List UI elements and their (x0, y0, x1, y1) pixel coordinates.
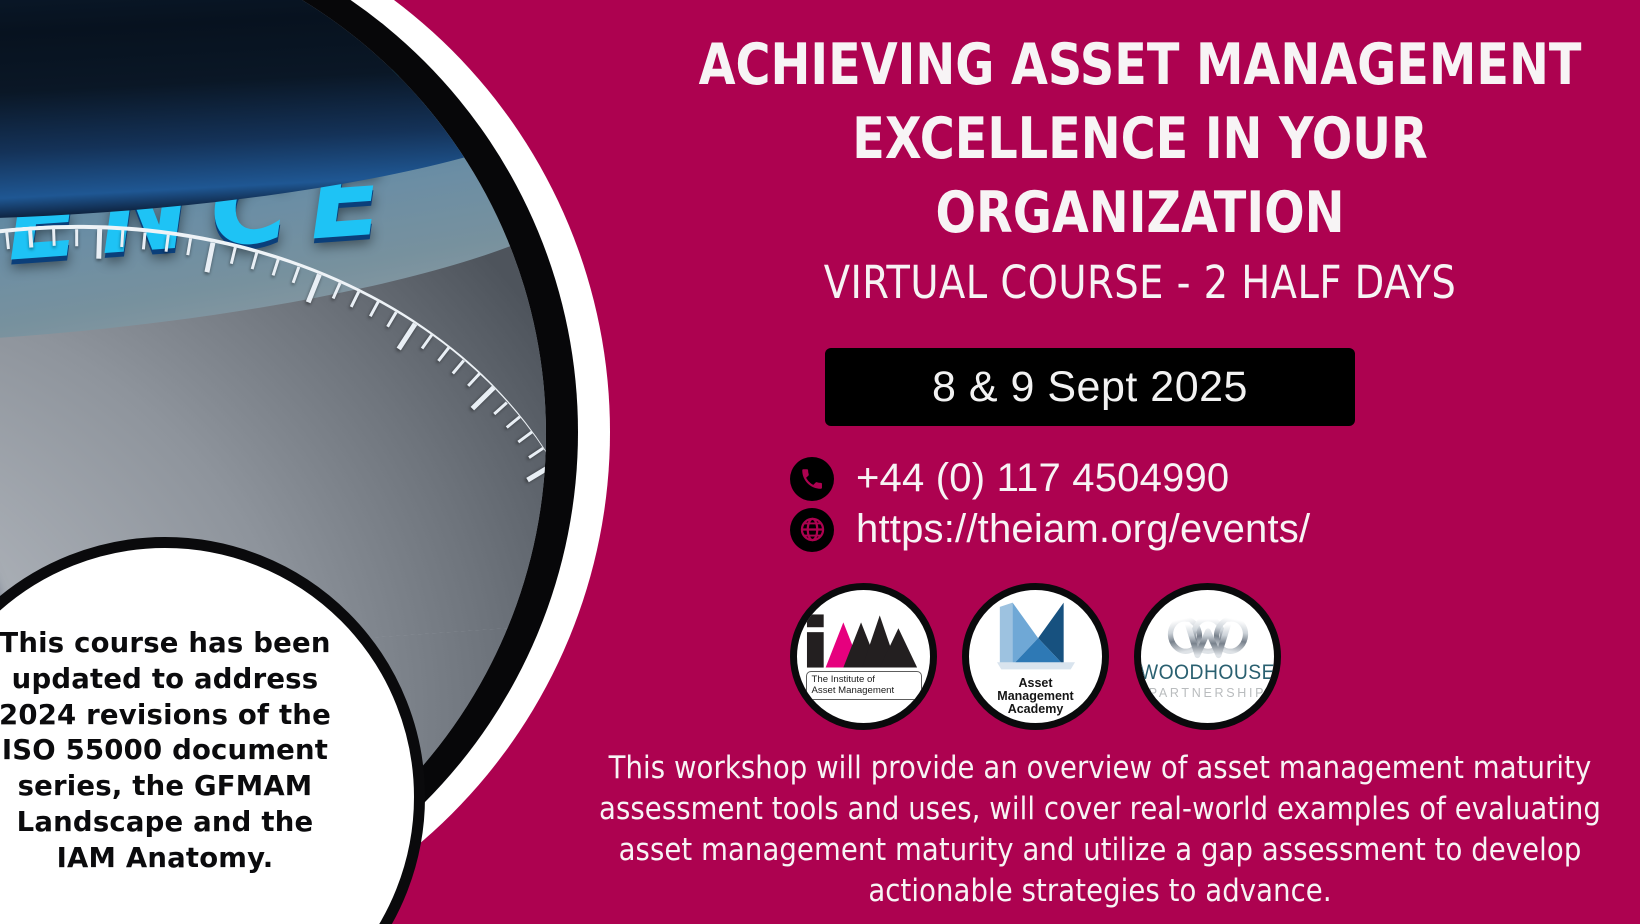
globe-icon (790, 508, 834, 552)
partner-logo-row: The Institute of Asset Management Asset … (790, 583, 1281, 730)
phone-number: +44 (0) 117 4504990 (856, 456, 1229, 501)
compass-tick (369, 301, 380, 317)
compass-tick (526, 462, 546, 482)
iam-caption-line2: Asset Management (812, 685, 916, 696)
compass-tick (494, 401, 509, 415)
contact-website-row[interactable]: https://theiam.org/events/ (790, 507, 1550, 552)
phone-icon (790, 457, 834, 501)
date-badge-text: 8 & 9 Sept 2025 (932, 363, 1248, 412)
ama-caption-line1: Asset (997, 677, 1073, 690)
compass-tick (75, 229, 78, 246)
iam-caption-line1: The Institute of (812, 674, 916, 685)
compass-tick (292, 266, 301, 283)
woodhouse-logo-subtitle: PARTNERSHIP (1149, 686, 1266, 700)
compass-tick (517, 431, 533, 444)
compass-tick (120, 230, 124, 247)
course-description: This workshop will provide an overview o… (576, 748, 1624, 912)
iam-logo-caption: The Institute of Asset Management (806, 671, 922, 700)
compass-tick (452, 359, 465, 374)
compass-tick (5, 232, 10, 249)
compass-tick (96, 229, 102, 259)
ama-caption-line2: Management (997, 690, 1073, 703)
ama-logo-icon (996, 597, 1076, 675)
compass-tick (306, 273, 322, 303)
woodhouse-logo-icon (1160, 614, 1256, 660)
logo-iam: The Institute of Asset Management (790, 583, 937, 730)
compass-tick (331, 282, 341, 299)
compass-tick (52, 229, 56, 246)
compass-tick (142, 232, 147, 249)
compass-tick (471, 386, 496, 411)
compass-tick (164, 235, 169, 252)
compass-tick (387, 312, 398, 328)
compass-tick (350, 291, 360, 308)
woodhouse-logo-name: WOODHOUSE (1140, 661, 1275, 685)
compass-tick (229, 247, 236, 264)
page-title: ACHIEVING ASSET MANAGEMENT EXCELLENCE IN… (684, 28, 1595, 250)
compass-tick (204, 242, 215, 272)
iam-logo-icon (805, 613, 923, 669)
course-update-callout-text: This course has been updated to address … (0, 626, 345, 876)
compass-tick (186, 238, 192, 255)
compass-tick (251, 252, 259, 269)
contact-list: +44 (0) 117 4504990 https://theiam.org/e… (790, 456, 1550, 558)
compass-tick (528, 447, 544, 459)
compass-tick (29, 230, 33, 247)
flyer-content-panel: ACHIEVING ASSET MANAGEMENT EXCELLENCE IN… (640, 0, 1640, 924)
compass-tick (396, 322, 417, 350)
logo-woodhouse-partnership: WOODHOUSE PARTNERSHIP (1134, 583, 1281, 730)
course-format-subtitle: VIRTUAL COURSE - 2 HALF DAYS (675, 256, 1606, 309)
event-flyer: EXCELLENCE (0, 0, 1640, 924)
date-badge: 8 & 9 Sept 2025 (825, 348, 1355, 426)
compass-tick (506, 416, 521, 429)
ama-caption-line3: Academy (997, 703, 1073, 716)
compass-tick (467, 373, 481, 388)
compass-tick (421, 334, 433, 350)
logo-asset-management-academy: Asset Management Academy (962, 583, 1109, 730)
website-url: https://theiam.org/events/ (856, 507, 1310, 552)
ama-logo-caption: Asset Management Academy (997, 677, 1073, 717)
compass-tick (271, 259, 279, 276)
compass-tick (437, 347, 450, 362)
contact-phone-row[interactable]: +44 (0) 117 4504990 (790, 456, 1550, 501)
